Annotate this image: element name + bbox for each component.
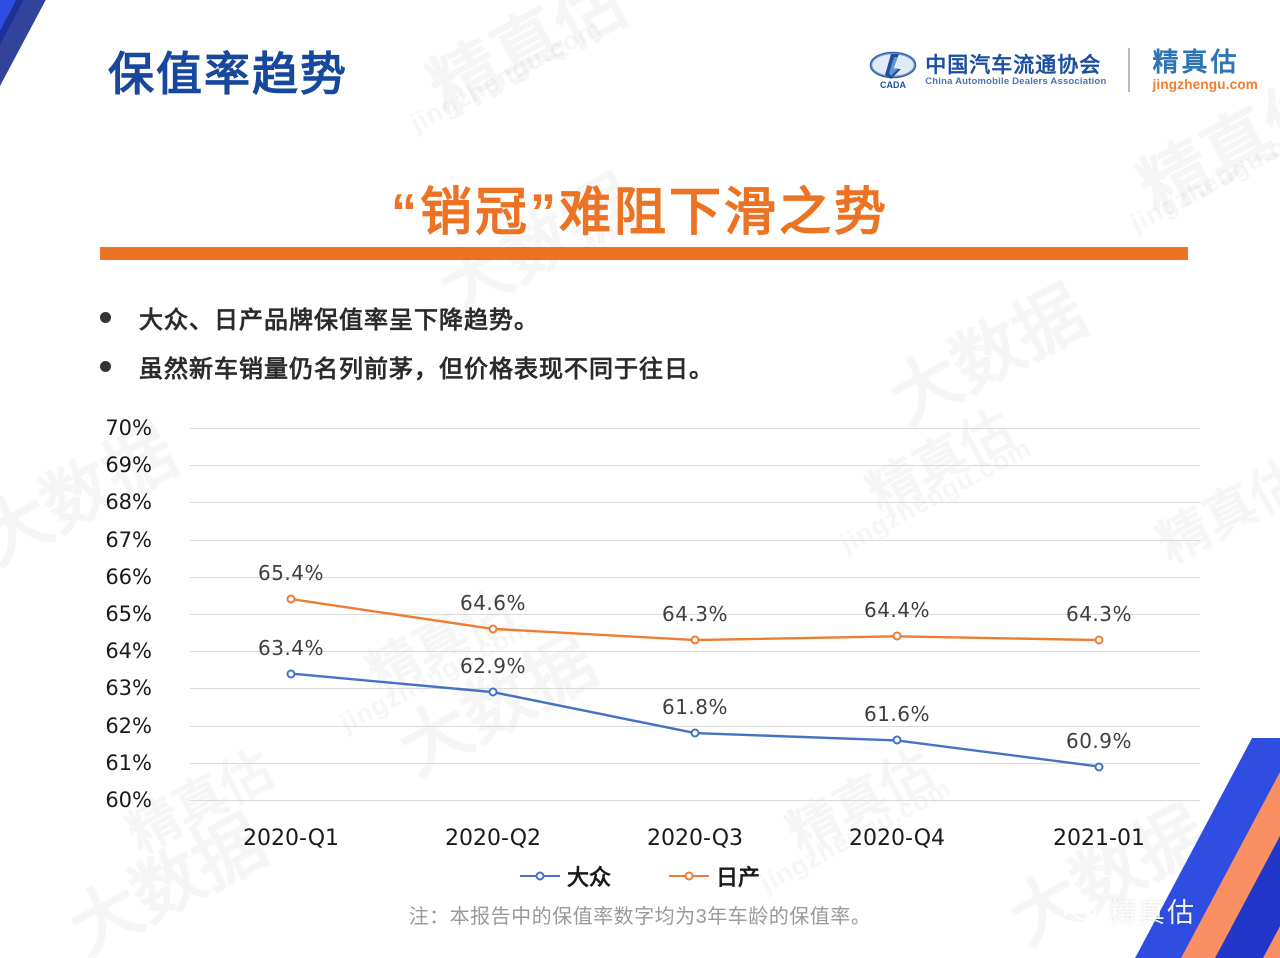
chart-data-label: 65.4% (258, 561, 324, 585)
watermark-text: jingzhengu.com (405, 12, 607, 139)
legend-label: 大众 (567, 860, 611, 892)
cada-text-block: 中国汽车流通协会 China Automobile Dealers Associ… (925, 54, 1106, 88)
chart-data-point (287, 595, 296, 604)
svg-text:CADA: CADA (880, 80, 906, 90)
x-axis-tick-label: 2020-Q1 (243, 826, 339, 851)
chart-data-label: 63.4% (258, 636, 324, 660)
x-axis-tick-label: 2020-Q2 (445, 826, 541, 851)
title-underline-bar (100, 247, 1188, 260)
chart-data-point (1095, 636, 1104, 645)
wechat-icon (1059, 891, 1099, 930)
y-axis-tick-label: 61% (32, 751, 152, 775)
chart-data-point (489, 624, 498, 633)
wechat-icon-svg (1059, 891, 1099, 925)
bullet-list: 大众、日产品牌保值率呈下降趋势。 虽然新车销量仍名列前茅，但价格表现不同于往日。 (100, 300, 1100, 398)
legend-swatch-icon (669, 870, 709, 882)
chart-data-point (489, 688, 498, 697)
bullet-text: 大众、日产品牌保值率呈下降趋势。 (139, 300, 539, 335)
jingzhengu-logo: 精真估 jingzhengu.com (1152, 48, 1258, 93)
logo-divider (1128, 48, 1130, 92)
slide-root: 精真估 jingzhengu.com 精真估 jingzhengu.com 大数… (0, 0, 1280, 958)
legend-label: 日产 (716, 860, 760, 892)
chart-line-大众 (291, 674, 1099, 767)
bullet-dot-icon (100, 312, 111, 323)
logo-group: CADA 中国汽车流通协会 China Automobile Dealers A… (869, 48, 1258, 93)
legend-item-大众[interactable]: 大众 (520, 860, 611, 892)
chart-gridline (190, 800, 1200, 801)
main-heading: “销冠”难阻下滑之势 (0, 170, 1280, 245)
cada-logo: CADA 中国汽车流通协会 China Automobile Dealers A… (869, 49, 1106, 91)
y-axis-tick-label: 63% (32, 676, 152, 700)
chart-data-label: 64.4% (864, 598, 930, 622)
cada-name-en: China Automobile Dealers Association (925, 77, 1106, 87)
x-axis-tick-label: 2020-Q4 (849, 826, 945, 851)
y-axis-tick-label: 64% (32, 639, 152, 663)
chart-data-point (691, 636, 700, 645)
chart-data-point (287, 669, 296, 678)
chart-data-label: 61.8% (662, 695, 728, 719)
bullet-dot-icon (100, 361, 111, 372)
wechat-badge: 精真估 (1059, 891, 1196, 930)
chart-data-label: 60.9% (1066, 729, 1132, 753)
watermark-text: 精真估 (409, 0, 642, 134)
decor-stripe (0, 0, 51, 333)
y-axis-tick-label: 66% (32, 565, 152, 589)
chart-data-label: 64.3% (662, 602, 728, 626)
y-axis-tick-label: 65% (32, 602, 152, 626)
chart-data-label: 64.3% (1066, 602, 1132, 626)
chart-plot-area: 70%69%68%67%66%65%64%63%62%61%60%2020-Q1… (190, 428, 1200, 800)
x-axis-tick-label: 2021-01 (1053, 826, 1145, 851)
y-axis-tick-label: 62% (32, 714, 152, 738)
legend-item-日产[interactable]: 日产 (669, 860, 760, 892)
wechat-label: 精真估 (1109, 891, 1196, 930)
y-axis-tick-label: 70% (32, 416, 152, 440)
cada-name-cn: 中国汽车流通协会 (925, 54, 1106, 77)
cada-emblem-svg: CADA (869, 49, 917, 91)
legend-swatch-icon (520, 870, 560, 882)
y-axis-tick-label: 69% (32, 453, 152, 477)
chart-data-point (893, 736, 902, 745)
list-item: 虽然新车销量仍名列前茅，但价格表现不同于往日。 (100, 349, 1100, 384)
x-axis-tick-label: 2020-Q3 (647, 826, 743, 851)
page-title: 保值率趋势 (108, 38, 348, 104)
jingzhengu-site: jingzhengu.com (1152, 78, 1258, 93)
bullet-text: 虽然新车销量仍名列前茅，但价格表现不同于往日。 (139, 349, 714, 384)
y-axis-tick-label: 67% (32, 528, 152, 552)
chart-legend: 大众日产 (0, 860, 1280, 892)
cada-emblem-icon: CADA (869, 49, 917, 91)
y-axis-tick-label: 60% (32, 788, 152, 812)
chart-data-label: 61.6% (864, 702, 930, 726)
chart-data-point (1095, 762, 1104, 771)
chart-data-point (893, 632, 902, 641)
chart-data-label: 64.6% (460, 591, 526, 615)
list-item: 大众、日产品牌保值率呈下降趋势。 (100, 300, 1100, 335)
retention-rate-line-chart: 70%69%68%67%66%65%64%63%62%61%60%2020-Q1… (60, 412, 1220, 872)
chart-data-label: 62.9% (460, 654, 526, 678)
jingzhengu-name-cn: 精真估 (1152, 48, 1258, 78)
y-axis-tick-label: 68% (32, 490, 152, 514)
chart-data-point (691, 729, 700, 738)
